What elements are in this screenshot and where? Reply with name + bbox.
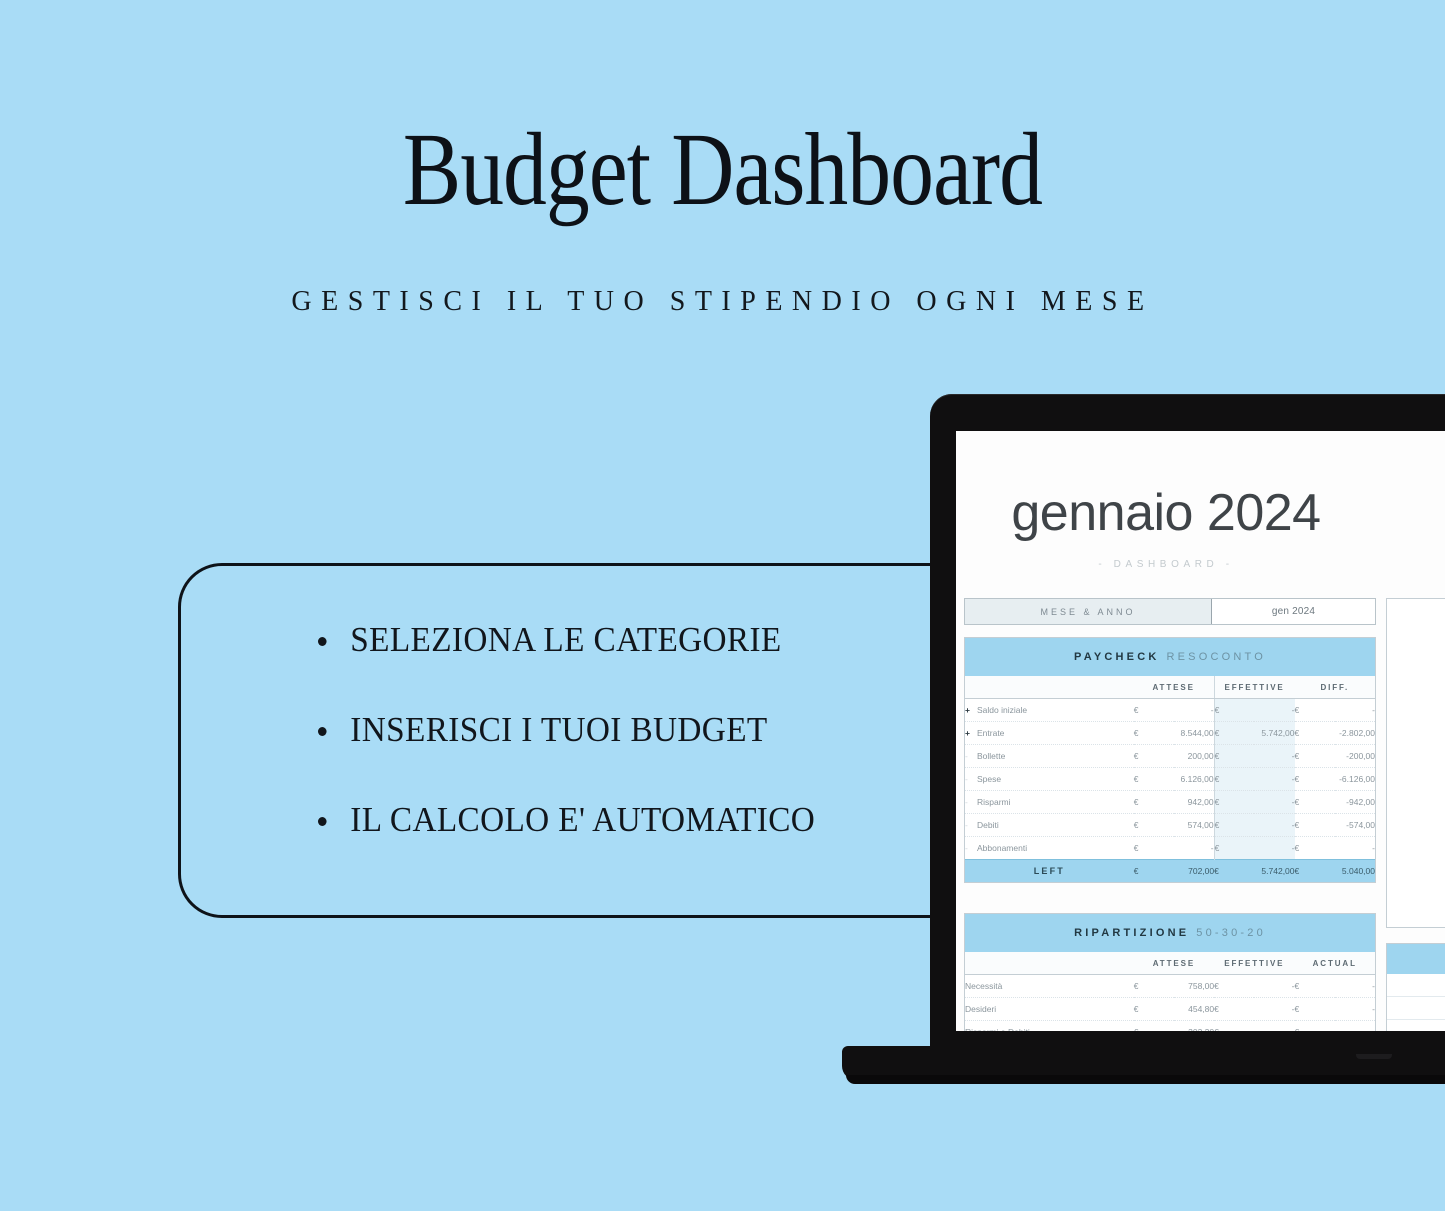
table-row[interactable]: -Risparmi € 942,00 € - € -942,00	[965, 791, 1375, 814]
row-label: -Bollette	[965, 745, 1134, 768]
currency-symbol: €	[1134, 1021, 1174, 1032]
cell-attese[interactable]: 8.544,00	[1174, 722, 1214, 745]
secondary-panel-row	[1387, 1020, 1445, 1031]
col-header-effettive: EFFETTIVE	[1214, 952, 1294, 975]
row-label: -Risparmi	[965, 791, 1134, 814]
cell-attese[interactable]: 303,20	[1174, 1021, 1214, 1032]
col-header-blank	[965, 676, 1134, 699]
ripartizione-panel: RIPARTIZIONE 50-30-20 ATTESE EFFETTIVE A…	[964, 913, 1376, 1031]
cell-attese[interactable]: -	[1174, 699, 1214, 722]
currency-symbol: €	[1214, 975, 1254, 998]
cell-attese[interactable]: 6.126,00	[1174, 768, 1214, 791]
currency-symbol: €	[1134, 768, 1174, 791]
ripartizione-panel-title: RIPARTIZIONE 50-30-20	[965, 914, 1375, 952]
total-diff: 5.040,00	[1335, 860, 1375, 883]
page-subtitle: GESTISCI IL TUO STIPENDIO OGNI MESE	[0, 286, 1445, 318]
mese-anno-row: MESE & ANNO gen 2024	[964, 598, 1376, 625]
row-label: Desideri	[965, 998, 1134, 1021]
currency-symbol: €	[1214, 837, 1254, 860]
cell-effettive[interactable]: -	[1254, 998, 1294, 1021]
mese-anno-label: MESE & ANNO	[965, 599, 1212, 624]
table-row[interactable]: -Abbonamenti € - € - € -	[965, 837, 1375, 860]
table-header-row: ATTESE EFFETTIVE DIFF.	[965, 676, 1375, 699]
cell-diff: -	[1335, 699, 1375, 722]
cell-attese[interactable]: 942,00	[1174, 791, 1214, 814]
row-label: -Spese	[965, 768, 1134, 791]
table-header-row: ATTESE EFFETTIVE ACTUAL	[965, 952, 1375, 975]
row-marker: -	[965, 820, 977, 830]
cell-actual: -	[1335, 975, 1375, 998]
table-total-row: LEFT € 702,00 € 5.742,00 € 5.040,00	[965, 860, 1375, 883]
currency-symbol: €	[1295, 814, 1335, 837]
paycheck-table: ATTESE EFFETTIVE DIFF. +Saldo iniziale €…	[965, 676, 1375, 882]
paycheck-title-strong: PAYCHECK	[1074, 651, 1160, 663]
row-label: Risparmi e Debiti	[965, 1021, 1134, 1032]
currency-symbol: €	[1214, 860, 1254, 883]
cell-attese[interactable]: 758,00	[1174, 975, 1214, 998]
currency-symbol: €	[1295, 975, 1335, 998]
paycheck-panel: PAYCHECK RESOCONTO ATTESE EFFETTIVE DIFF…	[964, 637, 1376, 883]
currency-symbol: €	[1295, 837, 1335, 860]
sheet-dashboard-label: - DASHBOARD -	[956, 559, 1376, 570]
secondary-panel-row	[1387, 974, 1445, 997]
paycheck-title-light: RESOCONTO	[1167, 651, 1267, 663]
cell-effettive[interactable]: -	[1254, 768, 1294, 791]
secondary-panel-row	[1387, 997, 1445, 1020]
currency-symbol: €	[1214, 745, 1254, 768]
cell-effettive[interactable]: -	[1254, 699, 1294, 722]
currency-symbol: €	[1214, 768, 1254, 791]
cell-diff: -942,00	[1335, 791, 1375, 814]
total-attese: 702,00	[1174, 860, 1214, 883]
laptop-base-notch	[1356, 1054, 1392, 1059]
cell-diff: -6.126,00	[1335, 768, 1375, 791]
row-label: +Saldo iniziale	[965, 699, 1134, 722]
cell-effettive[interactable]: 5.742,00	[1254, 722, 1294, 745]
cell-diff: -2.802,00	[1335, 722, 1375, 745]
col-header-attese: ATTESE	[1134, 952, 1214, 975]
currency-symbol: €	[1295, 1021, 1335, 1032]
currency-symbol: €	[1134, 998, 1174, 1021]
currency-symbol: €	[1214, 1021, 1254, 1032]
paycheck-panel-title: PAYCHECK RESOCONTO	[965, 638, 1375, 676]
currency-symbol: €	[1295, 860, 1335, 883]
currency-symbol: €	[1134, 860, 1174, 883]
row-marker: -	[965, 797, 977, 807]
cell-effettive[interactable]: -	[1254, 837, 1294, 860]
mese-anno-value[interactable]: gen 2024	[1212, 599, 1375, 624]
secondary-panel-cropped	[1386, 598, 1445, 928]
currency-symbol: €	[1134, 745, 1174, 768]
col-header-effettive: EFFETTIVE	[1214, 676, 1294, 699]
row-marker: +	[965, 705, 977, 715]
row-label: -Debiti	[965, 814, 1134, 837]
row-marker: -	[965, 751, 977, 761]
currency-symbol: €	[1134, 791, 1174, 814]
total-label: LEFT	[965, 860, 1134, 883]
table-row[interactable]: +Entrate € 8.544,00 € 5.742,00 € -2.802,…	[965, 722, 1375, 745]
page-title: Budget Dashboard	[116, 118, 1330, 222]
currency-symbol: €	[1214, 722, 1254, 745]
currency-symbol: €	[1214, 998, 1254, 1021]
laptop-mockup: gennaio 2024 - DASHBOARD - MESE & ANNO g…	[836, 394, 1445, 1094]
cell-attese[interactable]: 454,80	[1174, 998, 1214, 1021]
table-row[interactable]: +Saldo iniziale € - € - € -	[965, 699, 1375, 722]
currency-symbol: €	[1295, 722, 1335, 745]
cell-effettive[interactable]: -	[1254, 814, 1294, 837]
sheet-month-title: gennaio 2024	[956, 483, 1376, 543]
col-header-diff: DIFF.	[1295, 676, 1375, 699]
secondary-panel-title-bar	[1387, 944, 1445, 974]
currency-symbol: €	[1134, 699, 1174, 722]
currency-symbol: €	[1214, 699, 1254, 722]
cell-attese[interactable]: -	[1174, 837, 1214, 860]
cell-effettive[interactable]: -	[1254, 745, 1294, 768]
row-label: +Entrate	[965, 722, 1134, 745]
secondary-panel-cropped-lower	[1386, 943, 1445, 1031]
ripartizione-title-strong: RIPARTIZIONE	[1074, 927, 1189, 939]
currency-symbol: €	[1214, 791, 1254, 814]
table-row[interactable]: -Debiti € 574,00 € - € -574,00	[965, 814, 1375, 837]
currency-symbol: €	[1295, 745, 1335, 768]
currency-symbol: €	[1295, 699, 1335, 722]
col-header-attese: ATTESE	[1134, 676, 1214, 699]
spreadsheet-dashboard: gennaio 2024 - DASHBOARD - MESE & ANNO g…	[956, 431, 1445, 1031]
cell-effettive[interactable]: -	[1254, 791, 1294, 814]
cell-attese[interactable]: 574,00	[1174, 814, 1214, 837]
currency-symbol: €	[1295, 768, 1335, 791]
currency-symbol: €	[1134, 975, 1174, 998]
currency-symbol: €	[1295, 791, 1335, 814]
row-marker: -	[965, 774, 977, 784]
table-row[interactable]: -Bollette € 200,00 € - € -200,00	[965, 745, 1375, 768]
cell-actual: -	[1335, 998, 1375, 1021]
laptop-base-lip	[846, 1075, 1445, 1084]
cell-attese[interactable]: 200,00	[1174, 745, 1214, 768]
currency-symbol: €	[1214, 814, 1254, 837]
table-row[interactable]: Desideri € 454,80 € - € -	[965, 998, 1375, 1021]
table-row[interactable]: Necessità € 758,00 € - € -	[965, 975, 1375, 998]
cell-effettive[interactable]: -	[1254, 1021, 1294, 1032]
table-row[interactable]: -Spese € 6.126,00 € - € -6.126,00	[965, 768, 1375, 791]
cell-diff: -200,00	[1335, 745, 1375, 768]
col-header-blank	[965, 952, 1134, 975]
cell-effettive[interactable]: -	[1254, 975, 1294, 998]
total-effettive: 5.742,00	[1254, 860, 1294, 883]
currency-symbol: €	[1134, 814, 1174, 837]
row-marker: +	[965, 728, 977, 738]
ripartizione-title-light: 50-30-20	[1196, 927, 1266, 939]
cell-diff: -	[1335, 837, 1375, 860]
ripartizione-table: ATTESE EFFETTIVE ACTUAL Necessità € 758,…	[965, 952, 1375, 1031]
row-label: -Abbonamenti	[965, 837, 1134, 860]
row-label: Necessità	[965, 975, 1134, 998]
row-marker: -	[965, 843, 977, 853]
currency-symbol: €	[1134, 722, 1174, 745]
col-header-actual: ACTUAL	[1295, 952, 1375, 975]
currency-symbol: €	[1295, 998, 1335, 1021]
cell-diff: -574,00	[1335, 814, 1375, 837]
cell-actual: -	[1335, 1021, 1375, 1032]
laptop-screen: gennaio 2024 - DASHBOARD - MESE & ANNO g…	[956, 431, 1445, 1031]
currency-symbol: €	[1134, 837, 1174, 860]
table-row[interactable]: Risparmi e Debiti € 303,20 € - € -	[965, 1021, 1375, 1032]
